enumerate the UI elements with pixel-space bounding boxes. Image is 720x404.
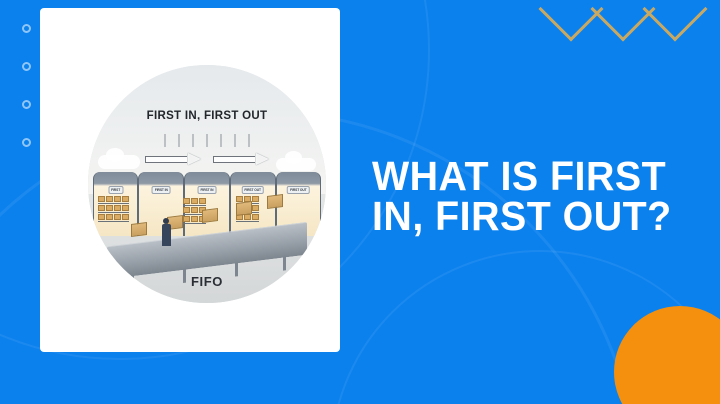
rack-shelf <box>98 196 129 204</box>
pallet-box <box>114 205 121 211</box>
dot-icon <box>22 24 31 33</box>
warehouse-sign: FIRST IN <box>152 186 171 194</box>
chevron-down-icon <box>642 0 707 42</box>
illustration-caption: FIFO <box>88 274 326 289</box>
pallet-box <box>114 214 121 220</box>
conveyor-box <box>236 201 252 216</box>
flow-arrows <box>145 154 269 165</box>
headline-line-2: IN, FIRST OUT? <box>372 196 689 236</box>
pallet-box <box>236 196 243 202</box>
tick-icon <box>179 134 180 147</box>
cloud-icon <box>98 155 140 169</box>
rack-shelf <box>183 198 206 206</box>
pallet-box <box>252 205 259 211</box>
headline-line-1: WHAT IS FIRST <box>372 156 689 196</box>
tick-icon <box>207 134 208 147</box>
conveyor-box <box>131 222 147 237</box>
pallet-box <box>183 198 190 204</box>
tick-marks <box>165 134 250 147</box>
page-title: WHAT IS FIRST IN, FIRST OUT? <box>372 156 689 236</box>
arrow-shaft <box>213 156 255 163</box>
pallet-box <box>122 205 129 211</box>
rack-shelf <box>98 214 129 222</box>
conveyor-box <box>267 194 283 209</box>
pallet-box <box>183 207 190 213</box>
dot-icon <box>22 100 31 109</box>
arrow-shaft <box>145 156 187 163</box>
dot-icon <box>22 138 31 147</box>
warehouse-sign: FIRST OUT <box>287 186 310 194</box>
pallet-box <box>114 196 121 202</box>
pallet-box <box>191 198 198 204</box>
worker-body <box>162 224 171 246</box>
cloud-icon <box>276 158 316 171</box>
chevron-decoration <box>548 0 698 32</box>
arrow-head <box>256 153 269 165</box>
warehouse-sign: FIRST OUT <box>241 186 264 194</box>
pallet-box <box>98 214 105 220</box>
warehouse-worker <box>162 218 171 246</box>
tick-icon <box>165 134 166 147</box>
warehouse-sign: FIRST <box>108 186 123 194</box>
pallet-box <box>183 216 190 222</box>
pallet-box <box>191 216 198 222</box>
worker-head <box>163 218 169 224</box>
fifo-illustration: FIRST IN, FIRST OUT FIRST <box>88 65 326 303</box>
pallet-box <box>106 205 113 211</box>
arrow-head <box>188 153 201 165</box>
conveyor-box <box>202 208 218 223</box>
fifo-banner: FIRST IN, FIRST OUT FIRST <box>0 0 720 404</box>
pallet-box <box>252 214 259 220</box>
tick-icon <box>235 134 236 147</box>
tick-icon <box>193 134 194 147</box>
pallet-box <box>252 196 259 202</box>
pallet-box <box>122 196 129 202</box>
tick-icon <box>249 134 250 147</box>
pallet-box <box>106 196 113 202</box>
illustration-title: FIRST IN, FIRST OUT <box>88 110 326 122</box>
dot-icon <box>22 62 31 71</box>
tick-icon <box>221 134 222 147</box>
arrow-right-icon <box>213 154 269 165</box>
pallet-box <box>98 196 105 202</box>
pallet-box <box>98 205 105 211</box>
pallet-box <box>191 207 198 213</box>
warehouse-sign: FIRST IN <box>198 186 217 194</box>
pallet-box <box>106 214 113 220</box>
storage-rack <box>98 196 129 222</box>
rack-shelf <box>98 205 129 213</box>
conveyor-leg <box>283 257 286 271</box>
pallet-box <box>199 198 206 204</box>
pallet-box <box>122 214 129 220</box>
arrow-right-icon <box>145 154 201 165</box>
